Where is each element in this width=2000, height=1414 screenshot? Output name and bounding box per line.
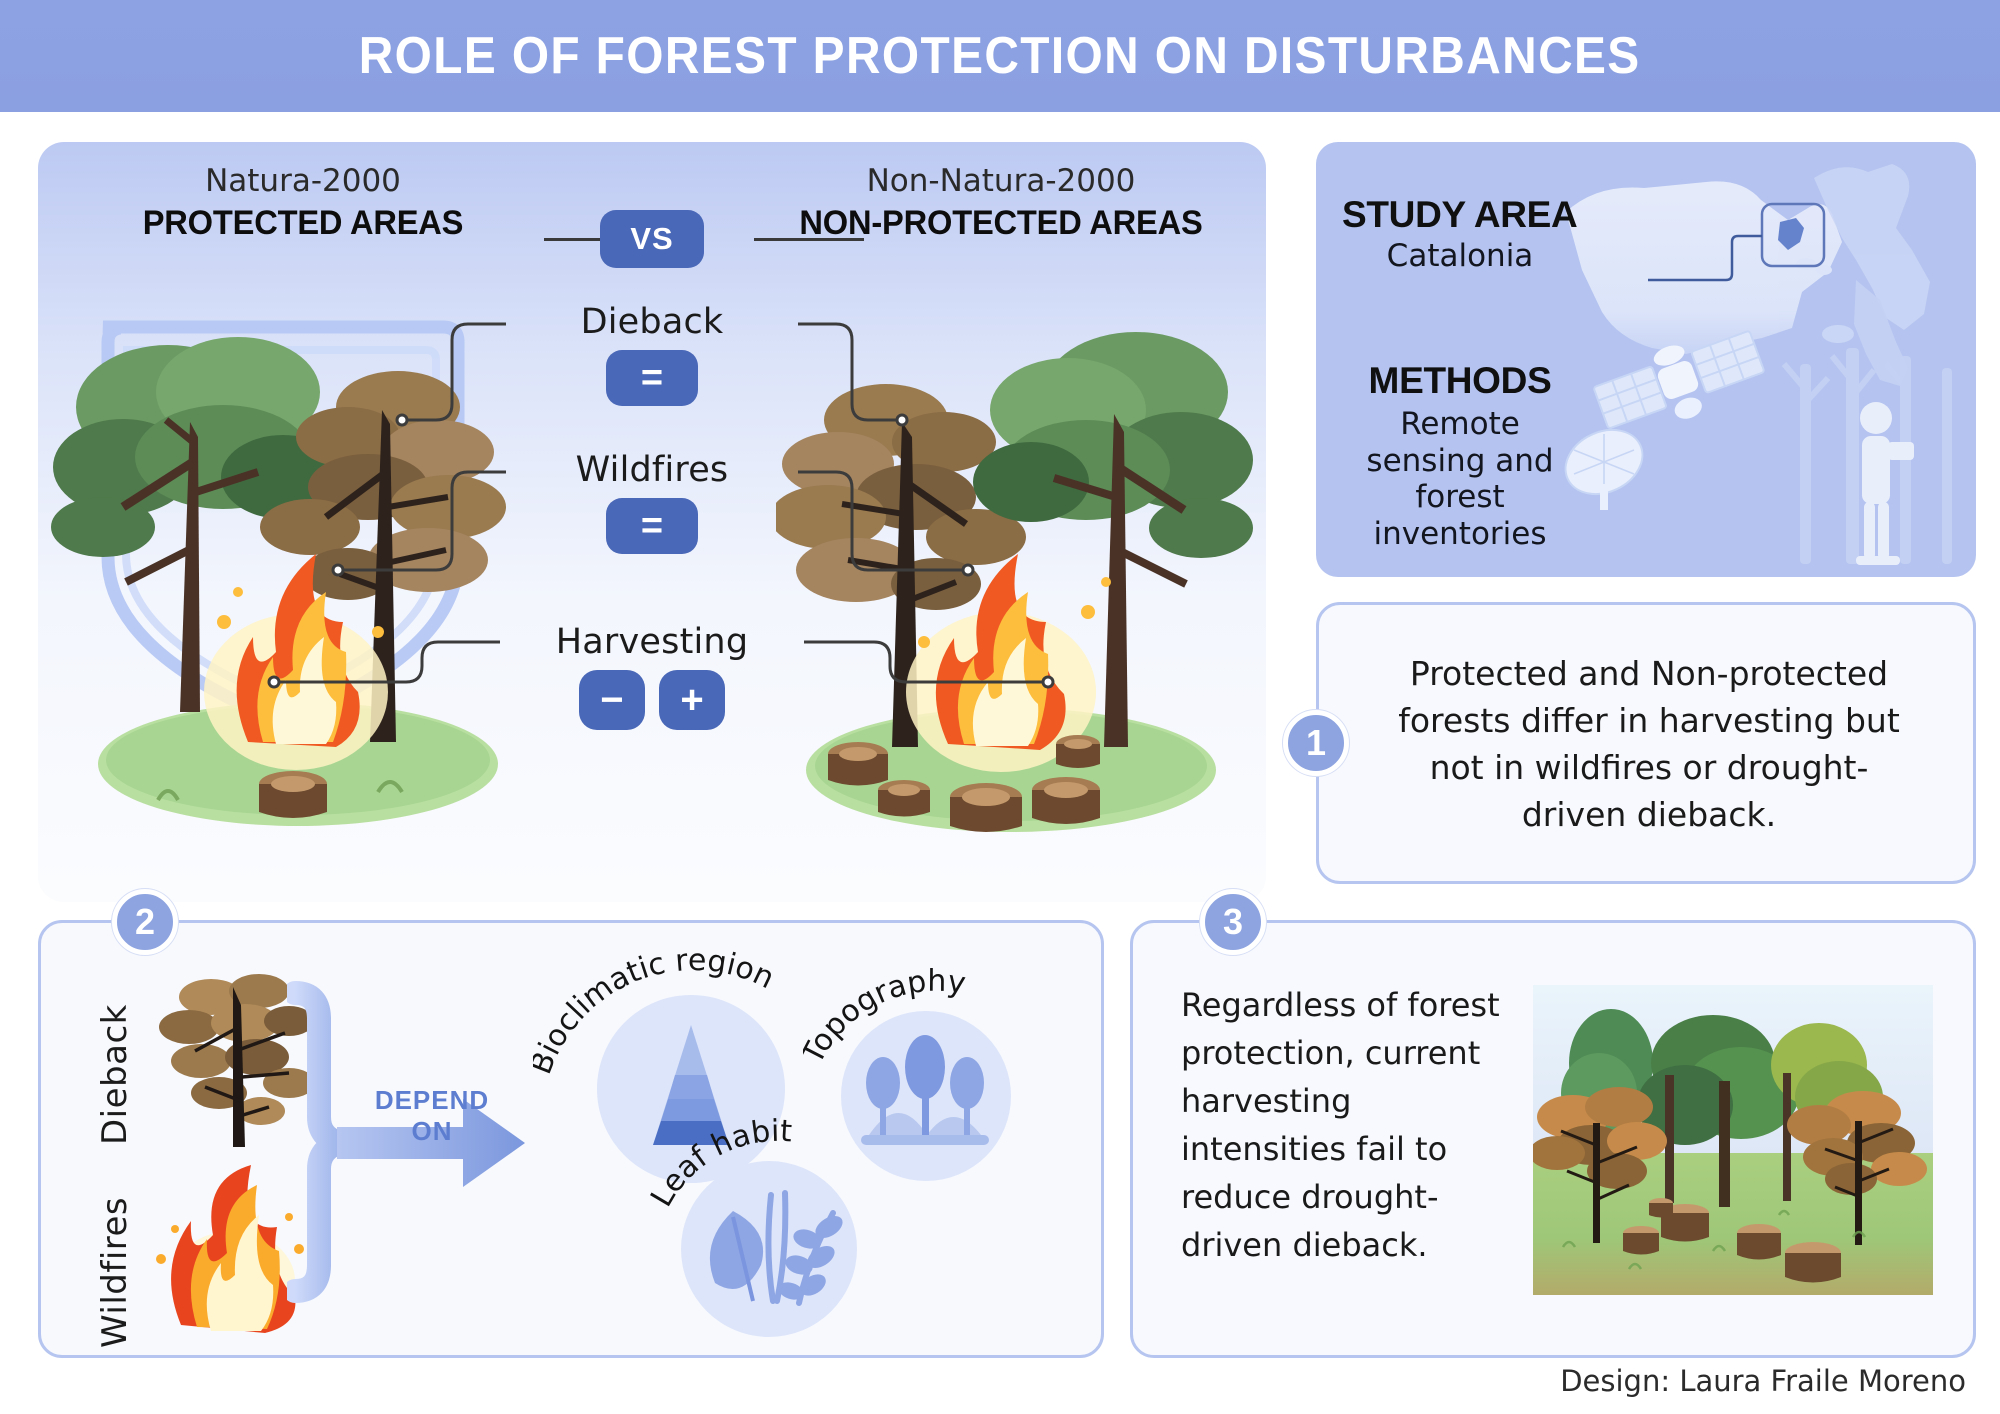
tree-stump (1032, 777, 1100, 824)
protected-title: PROTECTED AREAS (77, 204, 528, 242)
study-area-panel: STUDY AREA Catalonia METHODS Remote sens… (1316, 142, 1976, 577)
study-area-title: STUDY AREA (1342, 194, 1642, 236)
finding-panel-2: Dieback Wildfires (38, 920, 1104, 1358)
svg-text:Bioclimatic region: Bioclimatic region (533, 943, 780, 1079)
vs-badge: VS (600, 210, 704, 268)
methods-text: Remote sensing and forest inventories (1342, 406, 1578, 552)
finding-1-text: Protected and Non-protected forests diff… (1379, 651, 1919, 838)
protected-column-header: Natura-2000 PROTECTED AREAS (68, 164, 538, 242)
forest-inventory-icon (1784, 348, 1952, 565)
tree-stump (878, 780, 930, 817)
comparison-row-dieback: Dieback = (506, 302, 798, 406)
topography-label: Topography (803, 953, 1063, 1113)
finding-3-number-badge: 3 (1200, 889, 1266, 955)
finding-3-text: Regardless of forest protection, current… (1181, 981, 1511, 1269)
tree-stump (1649, 1198, 1673, 1218)
tree-stump (1623, 1226, 1659, 1255)
finding-panel-3: Regardless of forest protection, current… (1130, 920, 1976, 1358)
study-area-region: Catalonia (1342, 238, 1578, 275)
harvesting-badges: − + (506, 670, 798, 730)
nonprotected-column-header: Non-Natura-2000 NON-PROTECTED AREAS (766, 164, 1236, 242)
methods-title: METHODS (1342, 360, 1578, 402)
svg-text:Topography: Topography (803, 964, 968, 1071)
tree-stump (1056, 735, 1100, 768)
design-credit: Design: Laura Fraile Moreno (1560, 1364, 1966, 1398)
panel2-dieback-label: Dieback (95, 975, 135, 1145)
comparison-row-wildfires: Wildfires = (506, 450, 798, 554)
wildfires-result-badge: = (606, 498, 698, 554)
leaf-habit-label-text: Leaf habit (649, 1114, 793, 1213)
tree-stump (259, 771, 327, 818)
svg-text:Leaf habit: Leaf habit (649, 1114, 793, 1213)
bioclimatic-region-label-text: Bioclimatic region (533, 943, 780, 1079)
dieback-label: Dieback (506, 302, 798, 342)
study-area-text-block: STUDY AREA Catalonia (1342, 194, 1642, 275)
nonprotected-subtitle: Non-Natura-2000 (766, 164, 1236, 200)
harvesting-plus-badge: + (659, 670, 725, 730)
tree-stump (1737, 1224, 1781, 1260)
infographic-page: ROLE OF FOREST PROTECTION ON DISTURBANCE… (0, 0, 2000, 1414)
comparison-row-harvesting: Harvesting − + (506, 622, 798, 730)
harvesting-label: Harvesting (506, 622, 798, 662)
finding-1-number-badge: 1 (1283, 710, 1349, 776)
topography-label-text: Topography (803, 964, 968, 1071)
methods-text-block: METHODS Remote sensing and forest invent… (1342, 360, 1642, 552)
tree-stump (828, 742, 888, 786)
page-header: ROLE OF FOREST PROTECTION ON DISTURBANCE… (0, 0, 2000, 112)
protected-subtitle: Natura-2000 (68, 164, 538, 200)
dieback-result-badge: = (606, 350, 698, 406)
leaf-habit-label: Leaf habit (649, 1105, 899, 1255)
depend-on-label: DEPEND ON (357, 1085, 507, 1147)
harvested-forest-illustration (1533, 985, 1933, 1295)
wildfires-label: Wildfires (506, 450, 798, 490)
finding-panel-1: Protected and Non-protected forests diff… (1316, 602, 1976, 884)
tree-stump (1785, 1242, 1841, 1283)
protected-forest-illustration (48, 292, 528, 852)
comparison-header: Natura-2000 PROTECTED AREAS Non-Natura-2… (38, 164, 1266, 294)
page-title: ROLE OF FOREST PROTECTION ON DISTURBANCE… (359, 26, 1641, 86)
comparison-center-column: Dieback = Wildfires = Harvesting − + (506, 302, 798, 862)
comparison-panel: Natura-2000 PROTECTED AREAS Non-Natura-2… (38, 142, 1266, 902)
tree-stump (950, 783, 1022, 832)
vs-line-right (754, 238, 864, 241)
finding-2-number-badge: 2 (112, 889, 178, 955)
harvesting-minus-badge: − (579, 670, 645, 730)
nonprotected-forest-illustration (776, 292, 1256, 852)
nonprotected-title: NON-PROTECTED AREAS (775, 204, 1226, 242)
panel2-wildfires-label: Wildfires (95, 1163, 135, 1348)
